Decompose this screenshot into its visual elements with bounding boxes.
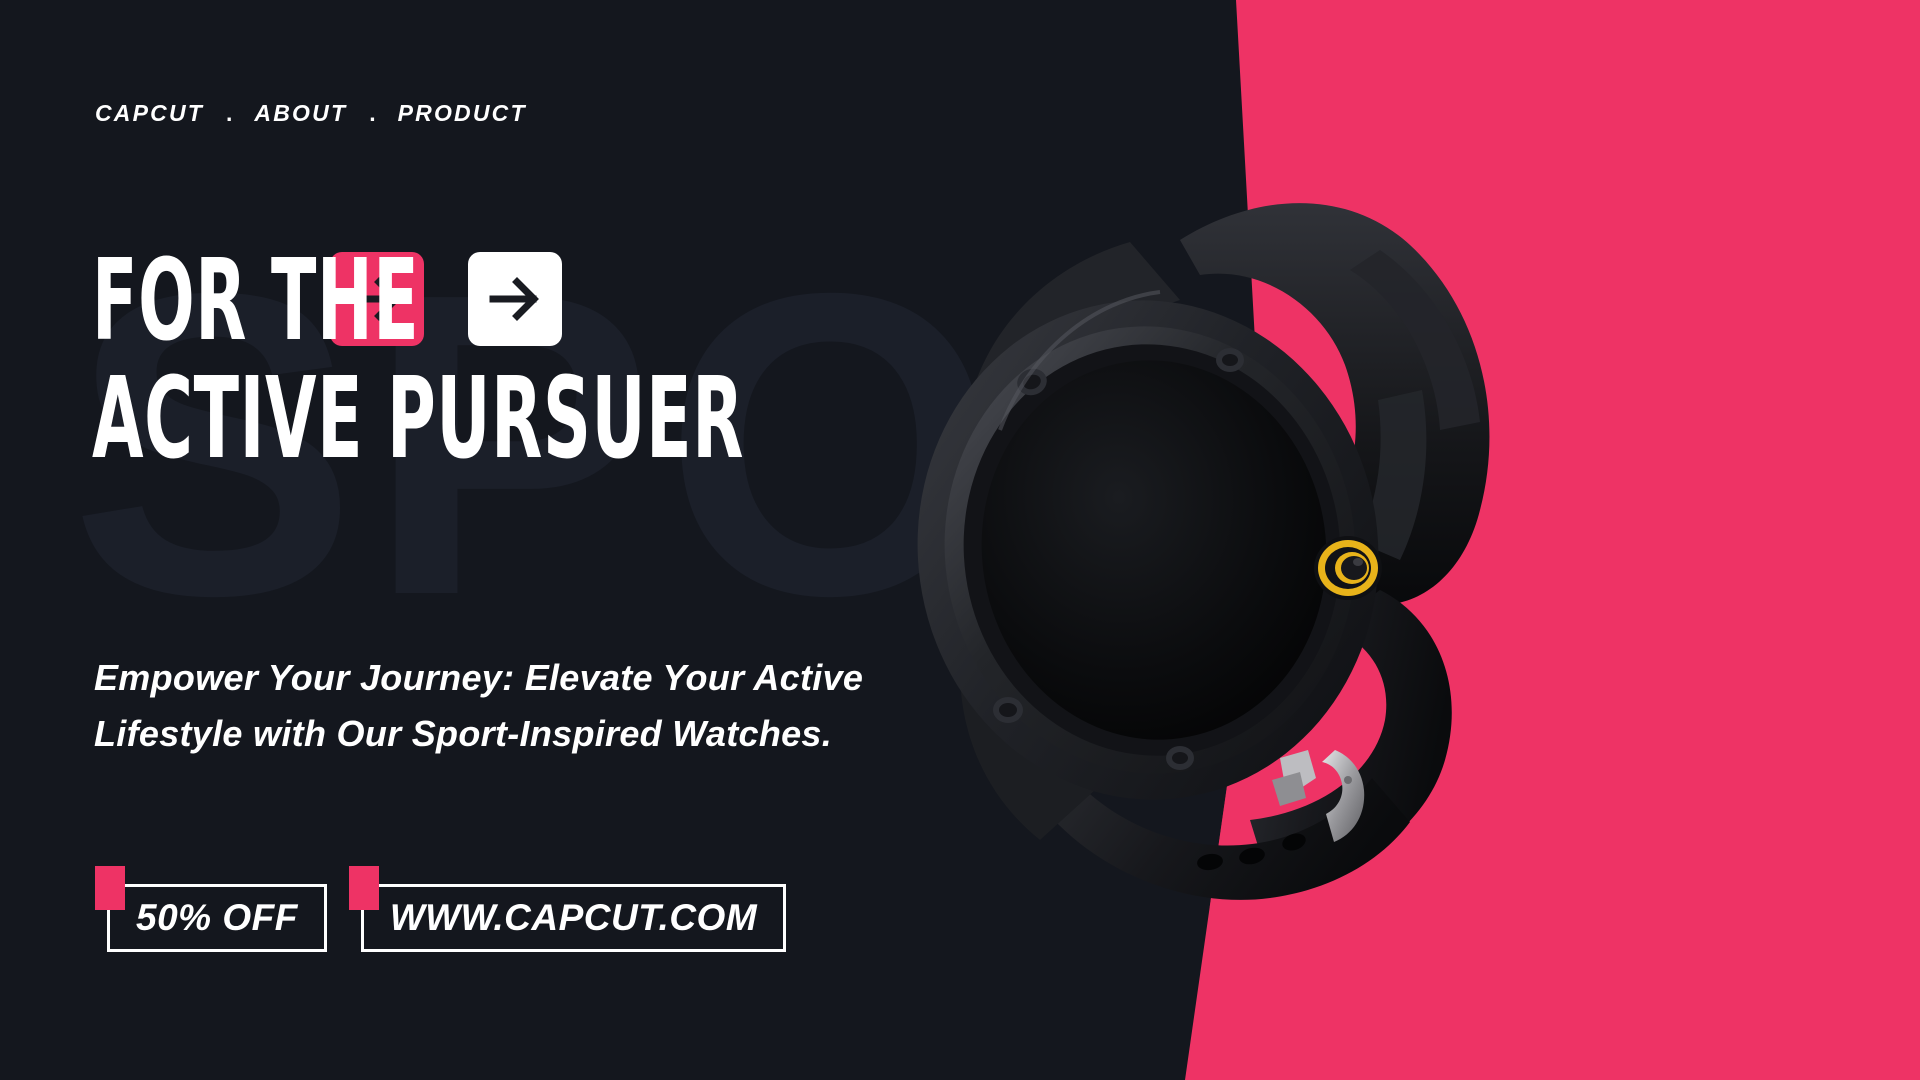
headline-block: FOR THE ACTIVE PURSUER (92, 248, 1080, 473)
subtitle-block: Empower Your Journey: Elevate Your Activ… (94, 650, 863, 762)
nav-separator: . (347, 100, 397, 127)
arrow-right-icon (487, 271, 543, 327)
nav-separator: . (204, 100, 254, 127)
badge-group: 50% OFF WWW.CAPCUT.COM (95, 866, 786, 952)
headline-line-2: ACTIVE PURSUER (92, 366, 744, 472)
nav-item-about[interactable]: ABOUT (254, 100, 347, 127)
badge-frame: 50% OFF (107, 884, 327, 952)
badge-corner-square (95, 866, 125, 910)
discount-badge[interactable]: 50% OFF (95, 866, 327, 952)
nav-item-capcut[interactable]: CAPCUT (95, 100, 204, 127)
nav-item-product[interactable]: PRODUCT (398, 100, 527, 127)
website-badge-label: WWW.CAPCUT.COM (390, 897, 757, 939)
subtitle-line-2: Lifestyle with Our Sport-Inspired Watche… (94, 706, 863, 762)
badge-corner-square (349, 866, 379, 910)
subtitle-line-1: Empower Your Journey: Elevate Your Activ… (94, 650, 863, 706)
promo-banner: SPO (0, 0, 1920, 1080)
discount-badge-label: 50% OFF (136, 897, 298, 939)
top-navigation: CAPCUT . ABOUT . PRODUCT (95, 100, 527, 127)
headline-line-1: FOR THE (92, 248, 419, 354)
watch-crown-button (1314, 536, 1382, 600)
website-badge[interactable]: WWW.CAPCUT.COM (349, 866, 786, 952)
badge-frame: WWW.CAPCUT.COM (361, 884, 786, 952)
arrow-right-secondary-button[interactable] (468, 252, 562, 346)
